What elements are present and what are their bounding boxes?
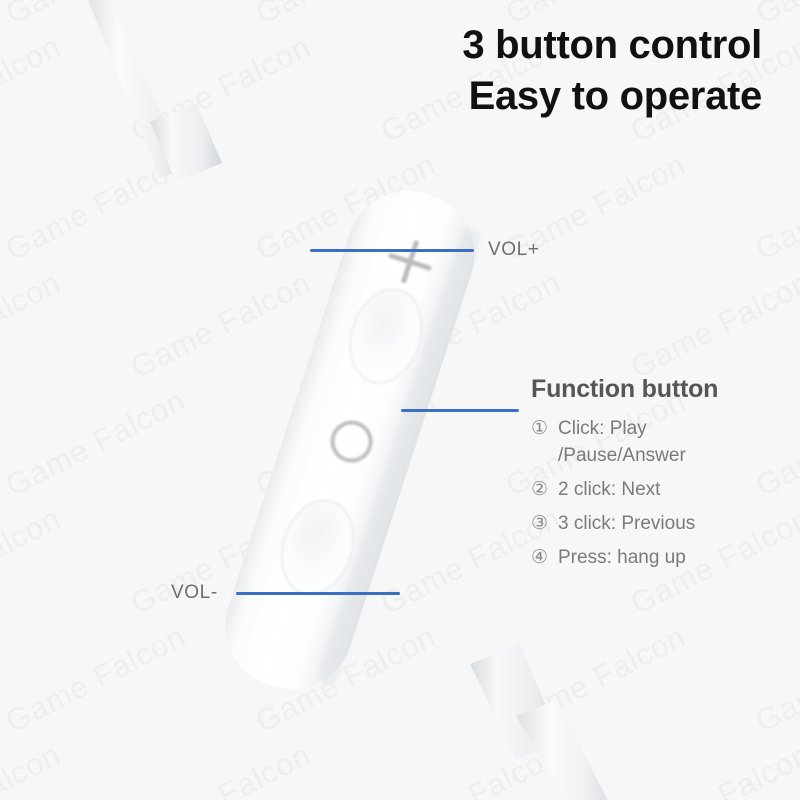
function-item-number: ③: [531, 511, 558, 538]
function-item: ②2 click: Next: [531, 477, 793, 504]
function-button-heading: Function button: [531, 375, 793, 404]
title-line-2: Easy to operate: [462, 71, 762, 122]
function-item-text: Press: hang up: [558, 545, 793, 572]
function-item-text: 2 click: Next: [558, 477, 793, 504]
function-item-number: ①: [531, 416, 558, 443]
function-item: ③3 click: Previous: [531, 511, 793, 538]
vol-down-leader-line: [236, 592, 400, 595]
function-item-number: ④: [531, 545, 558, 572]
function-item-line-1: Click: Play: [558, 418, 647, 439]
remote-body: [209, 175, 490, 705]
function-item-line-2: /Pause/Answer: [558, 443, 793, 470]
function-item: ①Click: Play/Pause/Answer: [531, 416, 793, 470]
function-item-text: 3 click: Previous: [558, 511, 793, 538]
function-item: ④Press: hang up: [531, 545, 793, 572]
page-title: 3 button control Easy to operate: [462, 20, 762, 122]
function-item-text: Click: Play/Pause/Answer: [558, 416, 793, 470]
lower-cable: [470, 644, 614, 800]
function-item-number: ②: [531, 477, 558, 504]
function-item-line-1: 2 click: Next: [558, 479, 660, 500]
function-button-list: ①Click: Play/Pause/Answer②2 click: Next③…: [531, 416, 793, 572]
function-button-callout: Function button ①Click: Play/Pause/Answe…: [531, 375, 793, 579]
function-item-line-1: 3 click: Previous: [558, 513, 695, 534]
title-line-1: 3 button control: [462, 20, 762, 71]
vol-up-leader-line: [310, 249, 474, 252]
function-leader-line: [401, 409, 519, 412]
infographic-canvas: Game FalconGame FalconGame FalconGame Fa…: [0, 0, 800, 800]
upper-cable: [83, 0, 222, 182]
vol-down-label: VOL-: [171, 582, 218, 604]
function-item-line-1: Press: hang up: [558, 547, 686, 568]
vol-up-label: VOL+: [488, 239, 540, 261]
